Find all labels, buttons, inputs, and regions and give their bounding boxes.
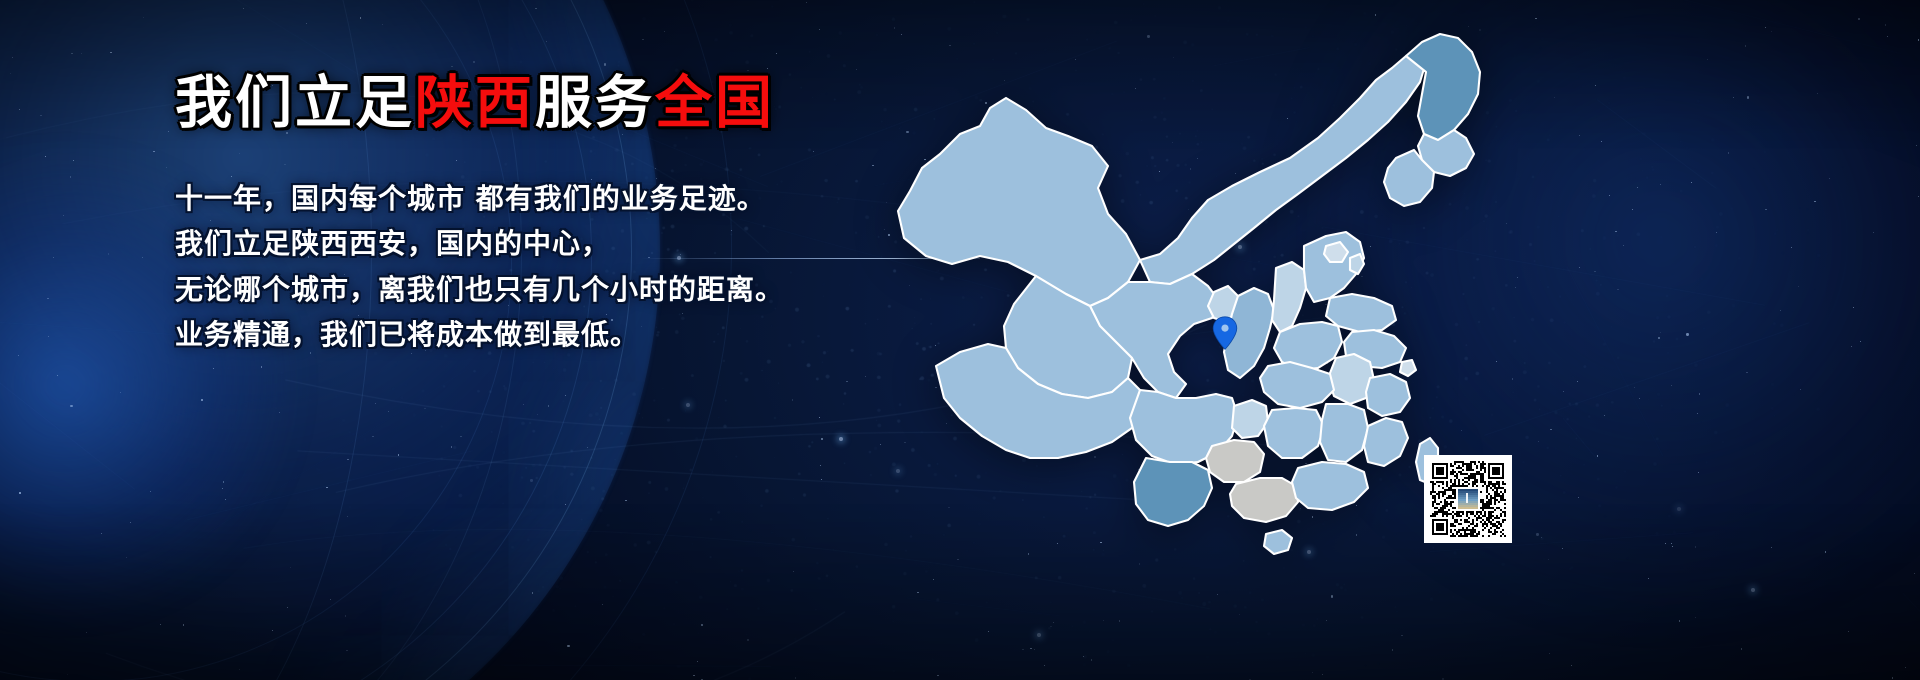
province-xinjiang[interactable]	[898, 98, 1140, 306]
province-tianjin[interactable]	[1350, 254, 1364, 274]
body-line: 十一年，国内每个城市 都有我们的业务足迹。	[175, 176, 935, 221]
province-chongqing[interactable]	[1232, 400, 1268, 438]
province-guizhou[interactable]	[1206, 440, 1264, 482]
province-hunan[interactable]	[1264, 408, 1324, 458]
body-line: 无论哪个城市，离我们也只有几个小时的距离。	[175, 267, 935, 312]
province-guangxi[interactable]	[1230, 478, 1298, 522]
province-jiangxi[interactable]	[1320, 404, 1368, 462]
headline-segment-4: 全国	[655, 70, 775, 136]
copy-block: 我们立足陕西服务全国 十一年，国内每个城市 都有我们的业务足迹。 我们立足陕西西…	[175, 72, 935, 357]
province-zhejiang[interactable]	[1366, 374, 1410, 416]
qr-code-icon[interactable]	[1424, 455, 1512, 543]
body-line: 我们立足陕西西安，国内的中心，	[175, 221, 935, 266]
body-copy: 十一年，国内每个城市 都有我们的业务足迹。 我们立足陕西西安，国内的中心， 无论…	[175, 176, 935, 357]
province-shanxi[interactable]	[1272, 262, 1306, 332]
headline-segment-1: 我们立足	[175, 70, 415, 136]
province-shanghai[interactable]	[1400, 360, 1416, 376]
province-fujian[interactable]	[1364, 418, 1408, 466]
headline-segment-3: 服务	[535, 70, 655, 136]
body-line: 业务精通，我们已将成本做到最低。	[175, 312, 935, 357]
province-yunnan[interactable]	[1134, 458, 1212, 526]
hero-banner: 我们立足陕西服务全国 十一年，国内每个城市 都有我们的业务足迹。 我们立足陕西西…	[0, 0, 1920, 680]
province-guangdong[interactable]	[1292, 462, 1368, 510]
province-hainan[interactable]	[1264, 530, 1292, 554]
headline-segment-2: 陕西	[415, 70, 535, 136]
province-hubei[interactable]	[1260, 362, 1334, 408]
page-title: 我们立足陕西服务全国	[175, 72, 935, 136]
location-pin-icon[interactable]	[1212, 316, 1238, 350]
province-inner-mongolia[interactable]	[1140, 50, 1426, 284]
